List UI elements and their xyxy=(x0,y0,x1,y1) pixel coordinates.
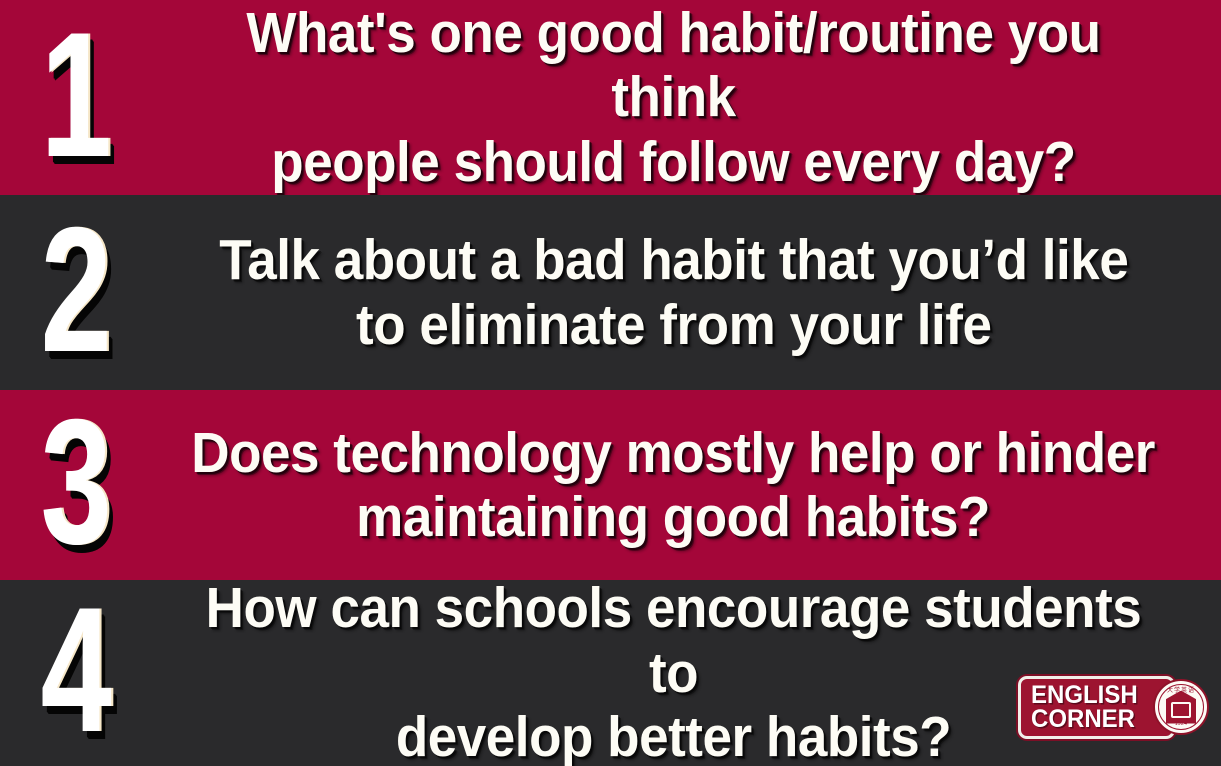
question-text-cell-2: Talk about a bad habit that you’d like t… xyxy=(150,195,1221,390)
question-number-cell-4: 4 xyxy=(0,580,150,766)
logo-line-english: ENGLISH xyxy=(1031,683,1138,707)
question-number-2: 2 xyxy=(40,217,110,369)
question-row-1: 1 What's one good habit/routine you thin… xyxy=(0,0,1221,195)
university-seal-icon: 大学英语 1924 xyxy=(1153,679,1209,735)
question-text-cell-3: Does technology mostly help or hinder ma… xyxy=(150,390,1221,580)
question-number-1: 1 xyxy=(40,22,110,174)
question-number-cell-2: 2 xyxy=(0,195,150,390)
seal-year: 1924 xyxy=(1155,721,1207,727)
question-text-1: What's one good habit/routine you think … xyxy=(187,1,1161,194)
question-number-4: 4 xyxy=(40,597,110,749)
question-text-2: Talk about a bad habit that you’d like t… xyxy=(219,228,1128,357)
logo-line-corner: CORNER xyxy=(1031,707,1138,731)
question-text-3: Does technology mostly help or hinder ma… xyxy=(192,421,1156,550)
question-number-cell-1: 1 xyxy=(0,0,150,195)
english-corner-logo: ENGLISH CORNER 大学英语 1924 xyxy=(1011,670,1209,744)
question-number-3: 3 xyxy=(40,409,110,561)
logo-wordmark: ENGLISH CORNER xyxy=(1018,676,1175,739)
question-row-3: 3 Does technology mostly help or hinder … xyxy=(0,390,1221,580)
question-row-2: 2 Talk about a bad habit that you’d like… xyxy=(0,195,1221,390)
question-text-cell-1: What's one good habit/routine you think … xyxy=(150,0,1221,195)
question-number-cell-3: 3 xyxy=(0,390,150,580)
poster-canvas: 1 What's one good habit/routine you thin… xyxy=(0,0,1221,766)
